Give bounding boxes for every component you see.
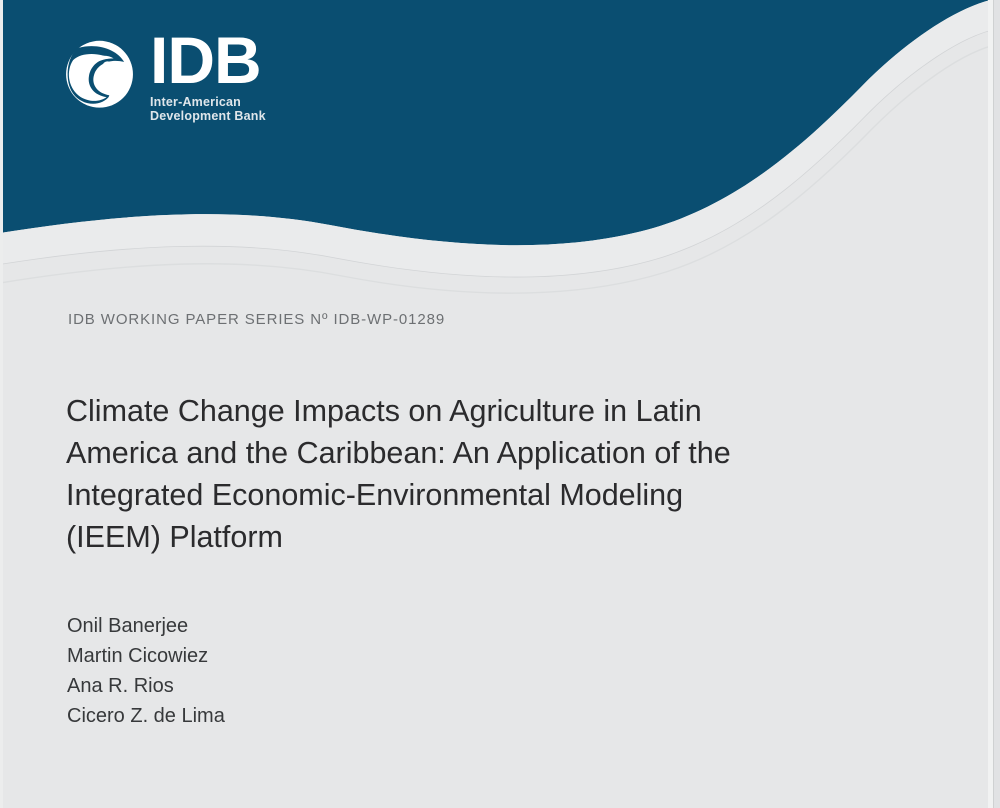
page-title-line-4: (IEEM) Platform [66,516,886,558]
author-list: Onil Banerjee Martin Cicowiez Ana R. Rio… [67,611,225,731]
page-edge-left [0,0,3,808]
idb-globe-icon [52,32,140,120]
working-paper-series-line: IDB WORKING PAPER SERIES Nº IDB-WP-01289 [68,311,445,328]
page-title-line-3: Integrated Economic-Environmental Modeli… [66,474,886,516]
idb-tagline: Inter-American Development Bank [150,95,266,125]
page-edge-rule [993,0,994,808]
document-cover-page: IDB Inter-American Development Bank IDB … [0,0,1000,808]
page-title-line-2: America and the Caribbean: An Applicatio… [66,432,886,474]
author-name: Martin Cicowiez [67,641,225,671]
idb-wordmark: IDB [150,30,266,91]
author-name: Ana R. Rios [67,671,225,701]
page-gutter [994,0,1000,808]
author-name: Onil Banerjee [67,611,225,641]
idb-logo-lockup: IDB Inter-American Development Bank [52,30,266,124]
page-title-line-1: Climate Change Impacts on Agriculture in… [66,390,886,432]
idb-wordmark-block: IDB Inter-American Development Bank [150,30,266,124]
page-title: Climate Change Impacts on Agriculture in… [66,390,886,558]
author-name: Cicero Z. de Lima [67,701,225,731]
